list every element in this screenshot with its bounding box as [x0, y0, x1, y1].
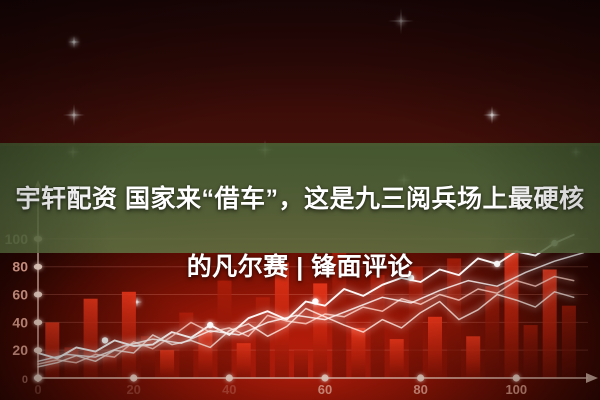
- x-axis-arrow-icon: [586, 373, 598, 383]
- x-axis-tick: [513, 374, 520, 381]
- chart-bar: [524, 325, 538, 378]
- x-axis-tick: [130, 374, 137, 381]
- chart-bar: [294, 350, 308, 378]
- chart-bar: [428, 317, 442, 378]
- x-axis-tick-label: 20: [126, 382, 140, 397]
- headline-line-1: 宇轩配资 国家来“借车”，这是九三阅兵场上最硬核: [0, 182, 600, 216]
- x-axis-tick: [226, 374, 233, 381]
- data-point-marker: [207, 322, 213, 328]
- x-axis-tick-label: 0: [34, 382, 41, 397]
- chart-bar: [237, 343, 251, 378]
- chart-bar: [466, 336, 480, 378]
- x-axis-tick-label: 40: [222, 382, 236, 397]
- y-axis-tick: [34, 319, 42, 325]
- x-axis-tick: [321, 374, 328, 381]
- chart-bar: [45, 322, 59, 378]
- x-axis-tick-label: 100: [505, 382, 527, 397]
- chart-bar: [390, 339, 404, 378]
- x-axis-tick: [417, 374, 424, 381]
- y-axis-tick-label: 20: [12, 342, 28, 358]
- headline-text: 宇轩配资 国家来“借车”，这是九三阅兵场上最硬核 的凡尔赛 | 锋面评论: [0, 148, 600, 318]
- y-axis-tick: [34, 347, 42, 353]
- data-point-marker: [102, 337, 108, 343]
- chart-bar: [198, 331, 212, 378]
- chart-bar: [351, 328, 365, 378]
- screenshot-root: 020406080100020406080100 宇轩配资 国家来“借车”，这是…: [0, 0, 600, 400]
- x-axis-tick-label: 60: [318, 382, 332, 397]
- x-axis-tick-label: 80: [413, 382, 427, 397]
- y-axis-tick-label: 0: [22, 374, 28, 386]
- headline-line-2: 的凡尔赛 | 锋面评论: [0, 250, 600, 284]
- chart-bar: [160, 350, 174, 378]
- x-axis-tick: [34, 374, 41, 381]
